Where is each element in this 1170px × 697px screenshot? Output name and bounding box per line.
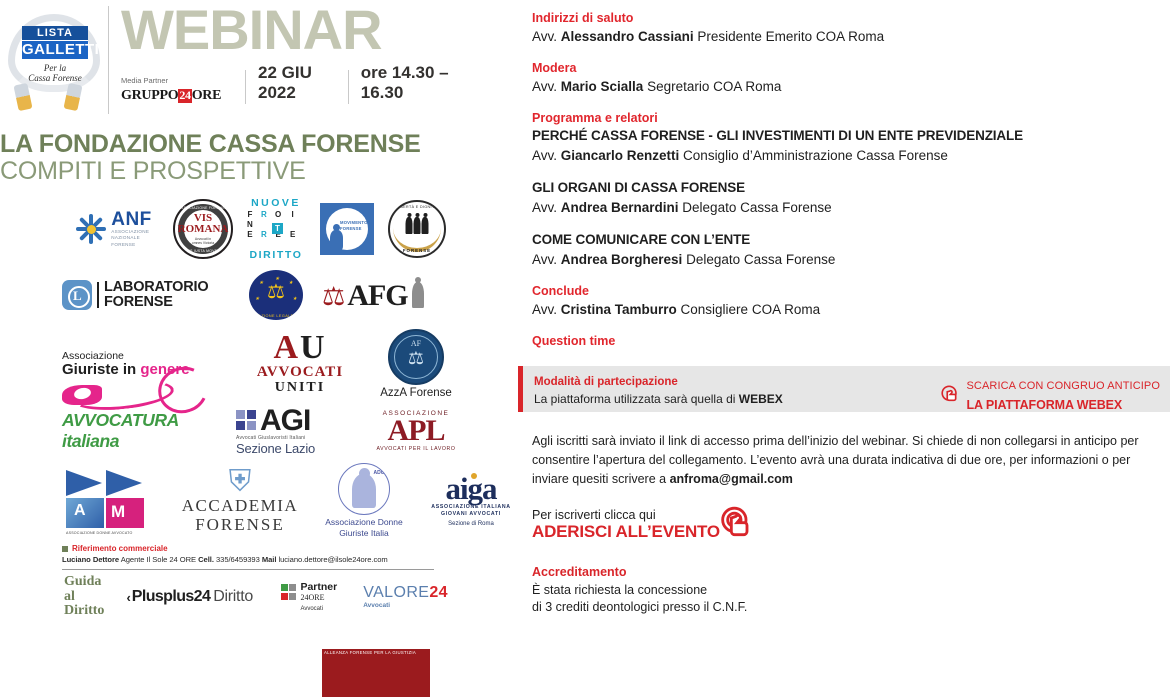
logo-adgi: ADGI Associazione DonneGiuriste Italia — [310, 463, 418, 538]
cta-line1: Per iscriverti clicca qui — [532, 508, 720, 523]
vis-line2: ROMANA — [178, 224, 229, 236]
laboratorio-mark-icon: L — [62, 280, 92, 310]
partner-ore: 24ORE — [300, 593, 337, 602]
partner-squares-icon — [281, 584, 297, 600]
gruppo-mark: 24 — [178, 89, 191, 103]
logo-tagline-1: Per la — [44, 63, 66, 73]
left-column: LISTA GALLETTI Per la Cassa Forense WEBI… — [0, 0, 470, 620]
band-accent-bar — [518, 366, 523, 412]
plusplus-light: Diritto — [213, 588, 253, 606]
gruppo24ore-logo: GRUPPO24ORE — [121, 88, 221, 104]
speaker-prefix: Avv. — [532, 252, 561, 267]
vis-mini: Avvocati inomnes Victoria — [192, 237, 214, 245]
commercial-mail-label: Mail — [262, 555, 277, 564]
logo-avvocatura-italiana: AVVOCATURA italiana — [62, 410, 230, 452]
meta-divider-1 — [245, 70, 246, 104]
media-partner-label: Media Partner — [121, 76, 221, 85]
participation-platform: La piattaforma utilizzata sarà quella di… — [534, 391, 783, 407]
accreditation-block: Accreditamento È stata richiesta la conc… — [532, 564, 747, 616]
commercial-cell-label: Cell. — [198, 555, 214, 564]
logo-aim: A M ASSOCIAZIONE DONNE AVVOCATO — [62, 468, 170, 534]
logo-agi: AGI Avvocati Giuslavoristi Italiani Sezi… — [230, 407, 370, 456]
logo-apl: ASSOCIAZIONE APL AVVOCATI PER IL LAVORO — [370, 410, 462, 452]
kicker-indirizzi-di-saluto: Indirizzi di saluto — [532, 10, 1162, 27]
azione-legale-icon: ★★★ ★★ ⚖ AZIONE LEGALE — [249, 270, 303, 320]
logo-row-2: L LABORATORIO FORENSE ★★★ ★★ — [62, 262, 462, 328]
accreditation-heading: Accreditamento — [532, 564, 747, 582]
event-date: 22 GIU 2022 — [258, 63, 336, 104]
cta-line2: ADERISCI ALL’EVENTO — [532, 523, 720, 542]
speaker-prefix: Avv. — [532, 29, 561, 44]
azza-name: AzzA Forense — [371, 387, 461, 399]
speaker-line: Avv. Mario Scialla Segretario COA Roma — [532, 77, 1162, 96]
au-u: U — [300, 329, 327, 366]
aim-b2: M — [111, 502, 124, 522]
logo-azione-legale: ★★★ ★★ ⚖ AZIONE LEGALE — [230, 270, 322, 320]
program-block-comunicare: COME COMUNICARE CON L’ENTE Avv. Andrea B… — [532, 231, 1162, 269]
avvit-italic: italiana — [62, 431, 119, 451]
logo-movimento-forense: MOVIMENTOFORENSE — [312, 203, 382, 255]
speaker-name: Andrea Bernardini — [561, 200, 679, 215]
accreditation-line2: di 3 crediti deontologici presso il C.N.… — [532, 599, 747, 616]
laboratorio-l1: LABORATORIO — [104, 280, 208, 295]
commercial-role: Agente Il Sole 24 ORE — [119, 555, 198, 564]
logo-aiga: aiga ASSOCIAZIONE ITALIANAGIOVANI AVVOCA… — [418, 475, 524, 528]
chevron-left-icon: ‹ — [126, 590, 130, 605]
adgi-mark: ADGI — [374, 470, 387, 476]
logo-valore24: VALORE24 Avvocati — [363, 585, 448, 609]
logo-row-1: ANF ASSOCIAZIONENAZIONALEFORENSE ASSOCIA… — [62, 196, 462, 262]
gruppo-pre: GRUPPO — [121, 88, 178, 104]
speaker-prefix: Avv. — [532, 79, 561, 94]
partner-avvocati: Avvocati — [300, 606, 337, 612]
speaker-role: Segretario COA Roma — [643, 79, 781, 94]
right-column: Indirizzi di saluto Avv. Alessandro Cass… — [518, 0, 1170, 620]
download-line2: LA PIATTAFORMA WEBEX — [967, 398, 1123, 412]
apl-acronym: APL — [370, 417, 462, 446]
logo-row-3: Associazione Giuriste in genere AU AVVOC… — [62, 328, 462, 400]
movimento-forense-icon: MOVIMENTOFORENSE — [320, 203, 374, 255]
participation-platform-name: WEBEX — [739, 392, 783, 406]
azza-disc-icon: AF ⚖ — [388, 329, 444, 385]
speaker-prefix: Avv. — [532, 148, 561, 163]
afg-acronym: AFG — [347, 283, 407, 309]
mov-l2: FORENSE — [340, 226, 362, 231]
anf-sub: ASSOCIAZIONENAZIONALEFORENSE — [111, 229, 152, 248]
click-hand-icon — [716, 504, 756, 544]
kicker-conclude: Conclude — [532, 283, 1162, 300]
program-block-question-time: Question time — [532, 333, 1162, 350]
program-block-conclude: Conclude Avv. Cristina Tamburro Consigli… — [532, 283, 1162, 319]
speaker-role: Consiglio d’Amministrazione Cassa Forens… — [679, 148, 948, 163]
speaker-role: Presidente Emerito COA Roma — [694, 29, 885, 44]
vis-top-arc: ASSOCIAZIONE FORENSE — [175, 206, 231, 210]
commercial-rule — [62, 569, 434, 570]
participation-text: Modalità di partecipazione La piattaform… — [534, 375, 783, 407]
logo-partner-24ore: Partner 24ORE Avvocati — [281, 582, 337, 612]
afg-band: ALLEANZA FORENSE PER LA GIUSTIZIA — [322, 649, 430, 697]
logo-plusplus24-diritto: ‹ Plusplus24 Diritto — [126, 588, 253, 606]
aim-caption: ASSOCIAZIONE DONNE AVVOCATO — [66, 531, 133, 535]
program-list: Indirizzi di saluto Avv. Alessandro Cass… — [532, 10, 1162, 350]
logo-nuove-frontiere-diritto: NUOVE FNE R R O E I E T DIRITTO — [240, 198, 312, 261]
header-meta: Media Partner GRUPPO24ORE 22 GIU 2022 or… — [121, 62, 470, 104]
avvit-bold: AVVOCATURA — [62, 410, 178, 430]
partner-bold: Partner — [300, 582, 337, 593]
logo-tagline: Per la Cassa Forense — [22, 63, 88, 84]
topic-title: GLI ORGANI DI CASSA FORENSE — [532, 179, 1162, 198]
au-l3: UNITI — [230, 380, 370, 395]
agi-acronym: AGI — [260, 407, 310, 434]
speaker-name: Andrea Borgheresi — [561, 252, 683, 267]
valore-avvocati: Avvocati — [363, 602, 448, 609]
commercial-name: Luciano Dettore — [62, 555, 119, 564]
nfd-letter-matrix: FNE R R O E I E T — [244, 210, 308, 248]
footer-partner-logos: Guida al Diritto ‹ Plusplus24 Diritto Pa… — [64, 575, 444, 619]
accademia-crest-icon: ⛨ — [170, 467, 310, 497]
azza-mark: AF — [390, 339, 442, 348]
program-block-relatori: Programma e relatori PERCHÉ CASSA FORENS… — [532, 110, 1162, 165]
program-block-modera: Modera Avv. Mario Scialla Segretario COA… — [532, 60, 1162, 96]
topic-title: PERCHÉ CASSA FORENSE - GLI INVESTIMENTI … — [532, 127, 1162, 146]
afg-scales-icon: ⚖ — [322, 285, 345, 308]
media-partner-block: Media Partner GRUPPO24ORE — [121, 76, 233, 104]
laboratorio-l2: FORENSE — [104, 295, 208, 310]
speaker-line: Avv. Giancarlo Renzetti Consiglio d’Ammi… — [532, 146, 1162, 165]
speaker-prefix: Avv. — [532, 302, 561, 317]
commercial-mail: luciano.dettore@ilsole24ore.com — [276, 555, 387, 564]
adgi-disc-icon: ADGI — [338, 463, 390, 515]
gruppo-post: ORE — [192, 88, 221, 104]
valore-24: 24 — [429, 584, 448, 601]
logo-guida-al-diritto: Guida al Diritto — [64, 575, 104, 619]
participation-pre: La piattaforma utilizzata sarà quella di — [534, 392, 739, 406]
download-line1: SCARICA CON CONGRUO ANTICIPO — [967, 380, 1161, 392]
register-cta[interactable]: Per iscriverti clicca qui ADERISCI ALL’E… — [532, 504, 756, 542]
accademia-l2: FORENSE — [170, 516, 310, 535]
click-hand-icon — [939, 384, 961, 406]
speaker-prefix: Avv. — [532, 200, 561, 215]
logo-galletti-label: GALLETTI — [22, 40, 88, 60]
program-block-saluto: Indirizzi di saluto Avv. Alessandro Cass… — [532, 10, 1162, 46]
liberta-dignita-seal-icon: LIBERTÀ E DIGNITÀ FORENSE — [388, 200, 446, 258]
commercial-cell: 335/6459393 — [214, 555, 262, 564]
download-webex-cta[interactable]: SCARICA CON CONGRUO ANTICIPO LA PIATTAFO… — [939, 375, 1161, 415]
kicker-programma-e-relatori: Programma e relatori — [532, 110, 1162, 127]
au-a: A — [273, 329, 300, 366]
participation-band: Modalità di partecipazione La piattaform… — [518, 366, 1170, 412]
logo-anf: ANF ASSOCIAZIONENAZIONALEFORENSE — [62, 210, 166, 248]
commercial-details: Luciano Dettore Agente Il Sole 24 ORE Ce… — [62, 555, 434, 564]
logo-afg: ⚖ AFG ALLEANZA FORENSE PER LA GIUSTIZIA — [322, 282, 456, 308]
contact-email[interactable]: anfroma@gmail.com — [670, 472, 793, 486]
apl-bottom: AVVOCATI PER IL LAVORO — [370, 446, 462, 452]
nfd-top: NUOVE — [244, 198, 308, 209]
speaker-name: Giancarlo Renzetti — [561, 148, 680, 163]
speaker-line: Avv. Cristina Tamburro Consigliere COA R… — [532, 300, 1162, 319]
bullet-square-icon — [62, 546, 68, 552]
speaker-name: Alessandro Cassiani — [561, 29, 694, 44]
meta-divider-2 — [348, 70, 349, 104]
lista-galletti-logo: LISTA GALLETTI Per la Cassa Forense — [0, 4, 108, 116]
logo-liberta-dignita-forense: LIBERTÀ E DIGNITÀ FORENSE — [382, 200, 452, 258]
adgi-l2: Giuriste Italia — [339, 528, 389, 538]
mov-l1: MOVIMENTO — [340, 220, 368, 225]
azione-legale-label: AZIONE LEGALE — [249, 314, 303, 318]
header-row: LISTA GALLETTI Per la Cassa Forense WEBI… — [0, 4, 470, 116]
speaker-line: Avv. Andrea Bernardini Delegato Cassa Fo… — [532, 198, 1162, 217]
commercial-heading: Riferimento commerciale — [72, 544, 168, 553]
nfd-bottom: DIRITTO — [244, 250, 308, 261]
afg-figure-icon — [412, 282, 424, 308]
page-title-line1: LA FONDAZIONE CASSA FORENSE — [0, 130, 421, 159]
speaker-role: Delegato Cassa Forense — [679, 200, 832, 215]
au-l2: AVVOCATI — [230, 364, 370, 381]
plusplus-bold: Plusplus24 — [132, 588, 210, 606]
ldf-top: LIBERTÀ E DIGNITÀ — [390, 205, 444, 209]
logo-row-4: AVVOCATURA italiana AGI Avvocati Giuslav… — [62, 400, 462, 462]
speaker-name: Cristina Tamburro — [561, 302, 677, 317]
flyer-page: LISTA GALLETTI Per la Cassa Forense WEBI… — [0, 0, 1170, 620]
ldf-bottom: FORENSE — [390, 248, 444, 253]
agi-squares-icon — [236, 410, 256, 430]
logo-accademia-forense: ⛨ ACCADEMIA FORENSE — [170, 467, 310, 534]
speaker-name: Mario Scialla — [561, 79, 644, 94]
aiga-section: Sezione di Roma — [418, 521, 524, 527]
program-block-organi: GLI ORGANI DI CASSA FORENSE Avv. Andrea … — [532, 179, 1162, 217]
accreditation-line1: È stata richiesta la concessione — [532, 582, 747, 599]
vis-bottom-arc: VIS IUSTA MOVET — [175, 249, 231, 253]
kicker-question-time: Question time — [532, 333, 1162, 350]
topic-title: COME COMUNICARE CON L’ENTE — [532, 231, 1162, 250]
info-paragraph: Agli iscritti sarà inviato il link di ac… — [532, 432, 1162, 488]
logo-lista-label: LISTA — [22, 26, 88, 40]
logo-row-5: A M ASSOCIAZIONE DONNE AVVOCATO ⛨ ACCADE… — [62, 462, 462, 540]
logo-avvocati-uniti: AU AVVOCATI UNITI — [230, 332, 370, 395]
aiga-sub: ASSOCIAZIONE ITALIANAGIOVANI AVVOCATI — [418, 504, 524, 519]
anf-star-icon — [76, 214, 106, 244]
info-paragraph-text: Agli iscritti sarà inviato il link di ac… — [532, 434, 1139, 486]
valore-word: VALORE — [363, 584, 429, 601]
aim-icon: A M ASSOCIAZIONE DONNE AVVOCATO — [62, 468, 170, 534]
speaker-line: Avv. Alessandro Cassiani Presidente Emer… — [532, 27, 1162, 46]
event-time: ore 14.30 – 16.30 — [361, 63, 470, 104]
agi-section: Sezione Lazio — [236, 441, 364, 456]
header-right: WEBINAR Media Partner GRUPPO24ORE 22 GIU… — [109, 4, 470, 116]
logo-vis-romana: ASSOCIAZIONE FORENSE VIS IUSTA MOVET VIS… — [166, 199, 240, 259]
logo-tagline-2: Cassa Forense — [28, 73, 81, 83]
kicker-modera: Modera — [532, 60, 1162, 77]
speaker-role: Consigliere COA Roma — [677, 302, 820, 317]
speaker-line: Avv. Andrea Borgheresi Delegato Cassa Fo… — [532, 250, 1162, 269]
logo-azza-forense: AF ⚖ AzzA Forense — [370, 329, 462, 399]
partner-logo-grid: ANF ASSOCIAZIONENAZIONALEFORENSE ASSOCIA… — [62, 196, 462, 540]
gig-swirl-icon — [62, 375, 208, 409]
logo-giuriste-in-genere: Associazione Giuriste in genere — [62, 351, 230, 378]
vis-romana-seal-icon: ASSOCIAZIONE FORENSE VIS IUSTA MOVET VIS… — [173, 199, 233, 259]
aim-b1: A — [74, 502, 86, 520]
speaker-role: Delegato Cassa Forense — [682, 252, 835, 267]
webinar-wordmark: WEBINAR — [121, 2, 470, 58]
page-title-line2: COMPITI E PROSPETTIVE — [0, 157, 306, 186]
anf-acronym: ANF — [111, 210, 152, 229]
logo-plate: LISTA GALLETTI Per la Cassa Forense — [22, 26, 88, 83]
adgi-l1: Associazione Donne — [325, 517, 403, 527]
participation-heading: Modalità di partecipazione — [534, 375, 783, 391]
laboratorio-mark-letter: L — [73, 289, 82, 302]
logo-laboratorio-forense: L LABORATORIO FORENSE — [62, 280, 230, 310]
commercial-reference: Riferimento commerciale Luciano Dettore … — [62, 544, 434, 570]
accademia-l1: ACCADEMIA — [170, 497, 310, 516]
guida-l1: Guida — [64, 574, 101, 589]
guida-l2: al Diritto — [64, 589, 104, 619]
nfd-box-letter: T — [272, 223, 283, 234]
